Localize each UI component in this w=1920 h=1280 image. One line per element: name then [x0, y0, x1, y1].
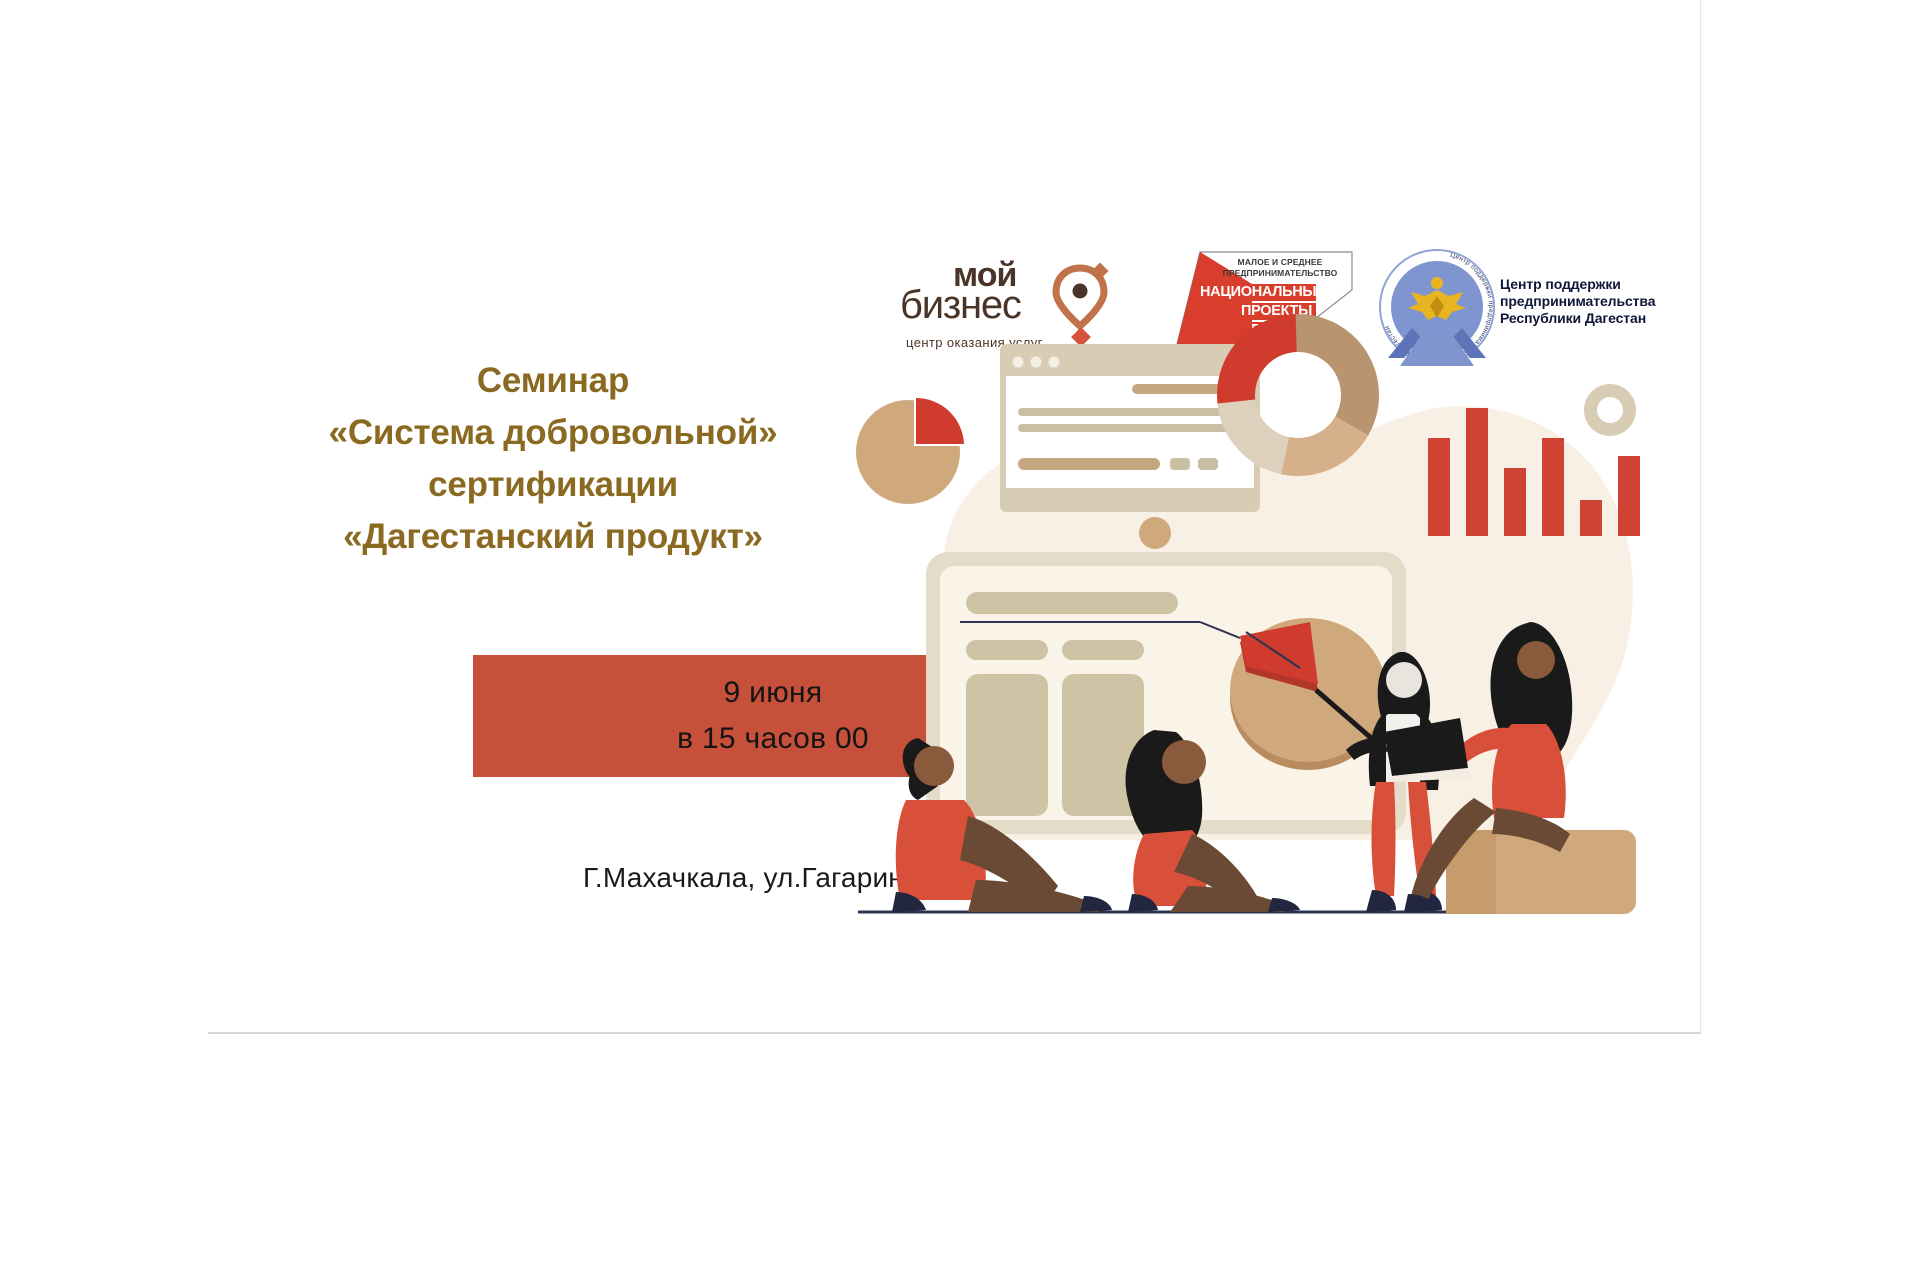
poster-card: мой бизнес центр оказания услуг МАЛОЕ И … — [208, 0, 1701, 1034]
business-seminar-illustration — [848, 300, 1678, 1000]
pie-chart-small — [856, 396, 966, 504]
page-title-line-4: «Дагестанский продукт» — [248, 511, 858, 563]
page-title-line-1: Семинар — [248, 355, 858, 407]
page-title-line-2: «Система добровольной» — [248, 407, 858, 459]
np-caption-line1: МАЛОЕ И СРЕДНЕЕ — [1206, 257, 1354, 268]
page-title-line-3: сертификации — [248, 459, 858, 511]
date-banner-line-1: 9 июня — [724, 670, 823, 716]
browser-window-mockup — [1000, 344, 1260, 512]
date-banner-line-2: в 15 часов 00 — [677, 716, 869, 762]
decorative-dot — [1139, 517, 1171, 549]
np-caption-line2: ПРЕДПРИНИМАТЕЛЬСТВО — [1206, 268, 1354, 279]
dagestan-title-line1: Центр поддержки — [1500, 276, 1655, 293]
title-block: Семинар «Система добровольной» сертифика… — [248, 355, 858, 563]
ring-dot-icon — [1584, 384, 1636, 436]
national-projects-caption: МАЛОЕ И СРЕДНЕЕ ПРЕДПРИНИМАТЕЛЬСТВО — [1206, 257, 1354, 279]
np-band-line1: НАЦИОНАЛЬНЫЕ — [1196, 284, 1316, 301]
